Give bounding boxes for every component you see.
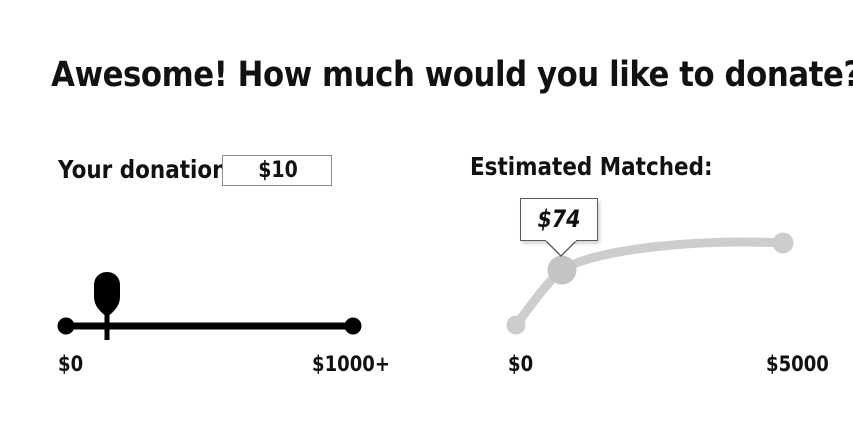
matched-curve-min-label: $0 (508, 352, 533, 376)
donation-slider-handle-body[interactable] (94, 272, 120, 317)
matched-value-tooltip-tail (545, 240, 577, 257)
donation-slider[interactable] (40, 255, 400, 360)
matched-curve-max-label: $5000 (766, 352, 829, 376)
donation-slider-min-endpoint[interactable] (58, 318, 75, 335)
donation-slider-min-label: $0 (58, 352, 83, 376)
donation-input-value[interactable]: $10 (231, 156, 326, 187)
matched-curve-slider[interactable] (490, 225, 820, 345)
matched-curve-max-endpoint[interactable] (773, 233, 794, 254)
matched-label: Estimated Matched: (470, 152, 713, 181)
matched-value-tooltip-text: $74 (526, 199, 591, 240)
matched-curve-min-endpoint[interactable] (507, 316, 526, 335)
donation-slider-graphic[interactable] (40, 255, 400, 360)
donation-slider-max-label: $1000+ (312, 352, 390, 376)
page-title: Awesome! How much would you like to dona… (51, 55, 802, 95)
matched-value-tooltip: $74 (520, 198, 598, 241)
donation-label: Your donation: (58, 155, 236, 184)
donation-slider-max-endpoint[interactable] (345, 318, 362, 335)
donation-input[interactable]: $10 (222, 155, 332, 186)
matched-curve-graphic[interactable] (490, 225, 820, 345)
matched-curve-handle[interactable] (548, 256, 577, 285)
donation-slider-handle[interactable] (94, 272, 120, 340)
